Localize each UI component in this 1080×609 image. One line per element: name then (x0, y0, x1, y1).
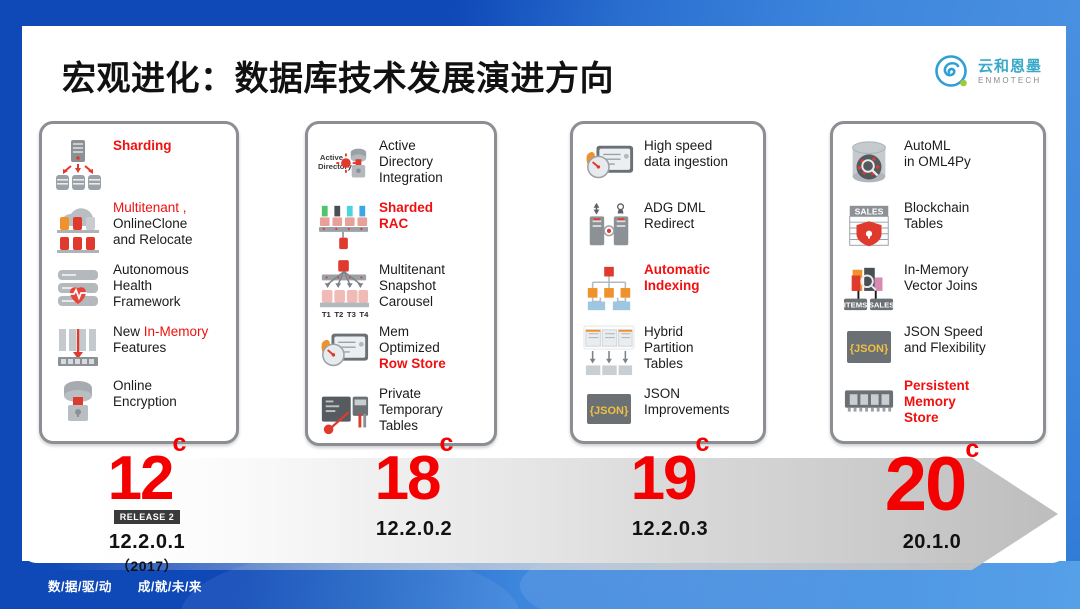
list-item-label: Sharded RAC (379, 198, 433, 232)
mem-optimized-icon (318, 322, 370, 380)
right-decor-bar (1066, 0, 1080, 609)
list-item-label: Persistent Memory Store (904, 376, 969, 426)
item-line: High speed (644, 138, 728, 154)
list-item[interactable]: Private Temporary Tables (318, 384, 484, 442)
version-release: 20.1.0 (812, 531, 1052, 554)
list-item-label: Active Directory Integration (379, 136, 443, 186)
top-decor-bar (0, 0, 1080, 26)
list-item[interactable]: Active Directory (318, 136, 484, 194)
item-line: In-Memory (904, 262, 978, 278)
list-item-label: Sharding (113, 136, 172, 154)
list-item-label: Hybrid Partition Tables (644, 322, 694, 372)
left-decor-bar (0, 0, 22, 609)
version-number: 18c (375, 450, 454, 507)
item-line: Snapshot (379, 278, 445, 294)
item-line: and Flexibility (904, 340, 986, 356)
adg-dml-redirect-icon (583, 198, 635, 256)
list-item-label: Multitenant Snapshot Carousel (379, 260, 445, 310)
item-line: RAC (379, 216, 433, 232)
automl-icon (843, 136, 895, 194)
list-item[interactable]: {JSON} JSON Improvements (583, 384, 753, 434)
content-panel: 宏观进化：数据库技术发展演进方向 云和恩墨 ENMOTECH (22, 26, 1066, 563)
list-item-label: Automatic Indexing (644, 260, 710, 294)
item-line: Memory (904, 394, 969, 410)
version-suffix: c (440, 429, 454, 457)
svg-text:SALES: SALES (869, 300, 895, 309)
item-line: Sharded (379, 200, 433, 216)
version-18c: 18c 12.2.0.2 (294, 450, 534, 580)
item-text-red: In-Memory (144, 324, 209, 339)
item-line: Private (379, 386, 443, 402)
list-item[interactable]: T1T2 T3T4 Multitenant Snapshot Carousel (318, 260, 484, 318)
list-item-label: Online Encryption (113, 376, 177, 410)
version-suffix: c (173, 429, 187, 457)
item-line: Multitenant , (113, 200, 193, 216)
list-item[interactable]: Mem Optimized Row Store (318, 322, 484, 380)
list-item[interactable]: Persistent Memory Store (843, 376, 1033, 426)
list-item-label: Autonomous Health Framework (113, 260, 189, 310)
item-line: Autonomous (113, 262, 189, 278)
version-major: 18 (375, 444, 440, 513)
item-line: New In-Memory (113, 324, 208, 340)
item-line: Sharding (113, 138, 172, 154)
card-18c[interactable]: Active Directory (305, 121, 497, 446)
hybrid-partition-icon (583, 322, 635, 380)
svg-text:SALES: SALES (855, 206, 884, 216)
item-line: Encryption (113, 394, 177, 410)
version-suffix: c (965, 435, 979, 463)
item-line: Indexing (644, 278, 710, 294)
list-item-label: JSON Speed and Flexibility (904, 322, 986, 356)
list-item[interactable]: ITEMS SALES In-Memory Vector Joins (843, 260, 1033, 318)
card-12c[interactable]: Sharding (39, 121, 239, 444)
list-item[interactable]: AutoML in OML4Py (843, 136, 1033, 194)
in-memory-icon (52, 322, 104, 372)
online-encryption-icon (52, 376, 104, 426)
item-line: Redirect (644, 216, 706, 232)
version-major: 12 (108, 444, 173, 513)
svg-text:T2: T2 (334, 310, 343, 319)
item-line: in OML4Py (904, 154, 971, 170)
item-line: Improvements (644, 402, 730, 418)
list-item-label: Mem Optimized Row Store (379, 322, 446, 372)
version-release: 12.2.0.1 (27, 531, 267, 554)
version-suffix: c (696, 429, 710, 457)
card-19c[interactable]: High speed data ingestion (570, 121, 766, 444)
item-line: Persistent (904, 378, 969, 394)
item-line: Active (379, 138, 443, 154)
list-item-label: New In-Memory Features (113, 322, 208, 356)
sharded-rac-icon (318, 198, 370, 256)
item-line: Integration (379, 170, 443, 186)
list-item[interactable]: Sharding (52, 136, 226, 194)
list-item[interactable]: ADG DML Redirect (583, 198, 753, 256)
version-release: 12.2.0.2 (294, 518, 534, 541)
item-line: Framework (113, 294, 189, 310)
blockchain-tables-icon: SALES (843, 198, 895, 256)
item-line: Automatic (644, 262, 710, 278)
list-item-label: JSON Improvements (644, 384, 730, 418)
svg-text:T3: T3 (347, 310, 356, 319)
version-number: 20c (885, 450, 979, 520)
list-item-label: ADG DML Redirect (644, 198, 706, 232)
item-line: Directory (379, 154, 443, 170)
list-item-label: Multitenant , OnlineClone and Relocate (113, 198, 193, 248)
item-line: Blockchain (904, 200, 969, 216)
version-number: 19c (631, 450, 710, 507)
list-item[interactable]: High speed data ingestion (583, 136, 753, 194)
version-19c: 19c 12.2.0.3 (550, 450, 790, 580)
feature-cards: Sharding (22, 26, 1066, 563)
list-item-label: Private Temporary Tables (379, 384, 443, 434)
item-line: Optimized (379, 340, 446, 356)
private-temp-tables-icon (318, 384, 370, 442)
item-line: Row Store (379, 356, 446, 372)
item-line: JSON Speed (904, 324, 986, 340)
item-line: Online (113, 378, 177, 394)
item-line: Partition (644, 340, 694, 356)
version-20c: 20c 20.1.0 (812, 450, 1052, 580)
item-line: Multitenant (379, 262, 445, 278)
automatic-indexing-icon (583, 260, 635, 318)
svg-text:{JSON}: {JSON} (590, 405, 629, 417)
list-item-label: In-Memory Vector Joins (904, 260, 978, 294)
json-icon: {JSON} (583, 384, 635, 434)
high-speed-ingestion-icon (583, 136, 635, 194)
footer-slogan: 数/据/驱/动 成/就/未/来 (48, 561, 202, 609)
slide-root: 数/据/驱/动 成/就/未/来 宏观进化：数据库技术发展演进方向 云和恩墨 EN… (0, 0, 1080, 609)
list-item[interactable]: {JSON} JSON Speed and Flexibility (843, 322, 1033, 372)
list-item-label: AutoML in OML4Py (904, 136, 971, 170)
sharding-icon (52, 136, 104, 194)
svg-text:T4: T4 (359, 310, 369, 319)
item-line: Temporary (379, 402, 443, 418)
list-item[interactable]: SALES Blockchain Tables (843, 198, 1033, 256)
list-item-label: Blockchain Tables (904, 198, 969, 232)
version-major: 19 (631, 444, 696, 513)
item-line: Tables (644, 356, 694, 372)
item-text-dark: New (113, 324, 144, 339)
item-line: Health (113, 278, 189, 294)
card-20c[interactable]: AutoML in OML4Py SALES (830, 121, 1046, 444)
item-line: Mem (379, 324, 446, 340)
multitenant-cloud-icon (52, 198, 104, 256)
item-line: ADG DML (644, 200, 706, 216)
item-line: Hybrid (644, 324, 694, 340)
item-line: data ingestion (644, 154, 728, 170)
list-item-label: High speed data ingestion (644, 136, 728, 170)
list-item[interactable]: Hybrid Partition Tables (583, 322, 753, 380)
item-line: Vector Joins (904, 278, 978, 294)
active-directory-icon: Active Directory (318, 136, 370, 194)
item-line: Store (904, 410, 969, 426)
item-line: Carousel (379, 294, 445, 310)
item-line: AutoML (904, 138, 971, 154)
list-item[interactable]: New In-Memory Features (52, 322, 226, 372)
list-item[interactable]: Automatic Indexing (583, 260, 753, 318)
item-line: Tables (904, 216, 969, 232)
list-item[interactable]: Online Encryption (52, 376, 226, 426)
version-major: 20 (885, 442, 966, 527)
svg-text:ITEMS: ITEMS (844, 300, 868, 309)
autonomous-health-icon (52, 260, 104, 318)
item-line: Tables (379, 418, 443, 434)
svg-text:{JSON}: {JSON} (850, 343, 889, 355)
item-line: OnlineClone (113, 216, 193, 232)
snapshot-carousel-icon: T1T2 T3T4 (318, 260, 370, 318)
persistent-memory-icon (843, 376, 895, 426)
footer-slogan-left: 数/据/驱/动 (48, 576, 112, 595)
svg-text:Active: Active (320, 153, 344, 162)
list-item[interactable]: Multitenant , OnlineClone and Relocate (52, 198, 226, 256)
version-number: 12c (108, 450, 187, 507)
list-item[interactable]: Autonomous Health Framework (52, 260, 226, 318)
item-line: Features (113, 340, 208, 356)
item-line: and Relocate (113, 232, 193, 248)
svg-text:T1: T1 (322, 310, 332, 319)
list-item[interactable]: Sharded RAC (318, 198, 484, 256)
json-icon: {JSON} (843, 322, 895, 372)
version-release: 12.2.0.3 (550, 518, 790, 541)
in-memory-vector-joins-icon: ITEMS SALES (843, 260, 895, 318)
item-line: JSON (644, 386, 730, 402)
footer-slogan-right: 成/就/未/来 (138, 576, 202, 595)
